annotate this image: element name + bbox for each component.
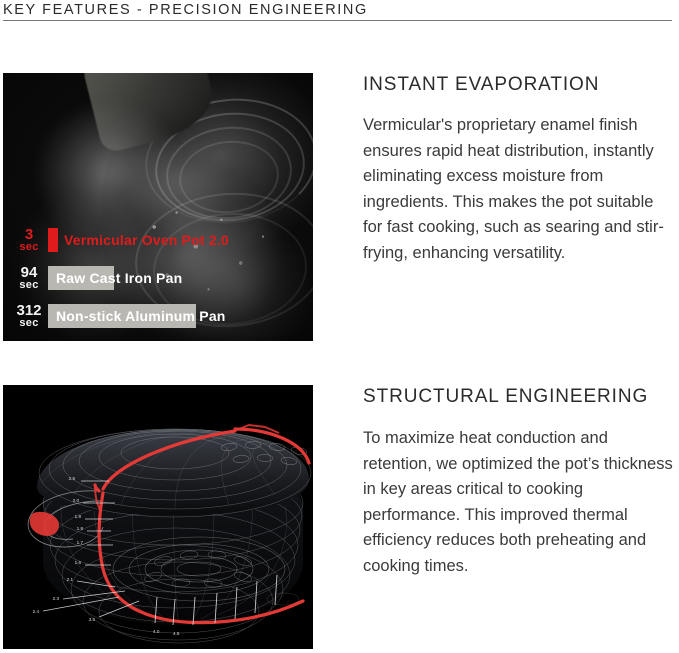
chart-row-aluminum: 312 sec Non-stick Aluminum Pan <box>10 299 313 333</box>
svg-text:1.9: 1.9 <box>75 514 82 519</box>
svg-text:3.5: 3.5 <box>89 617 96 622</box>
bar-wrap: Non-stick Aluminum Pan <box>48 304 196 328</box>
section-header: KEY FEATURES - PRECISION ENGINEERING <box>3 0 676 21</box>
svg-text:1.8: 1.8 <box>77 526 84 531</box>
bar-label-cast-iron: Raw Cast Iron Pan <box>56 271 182 285</box>
key-features-page: KEY FEATURES - PRECISION ENGINEERING <box>0 0 679 653</box>
feature-body: Vermicular's proprietary enamel finish e… <box>363 113 675 266</box>
feature-row-instant-evaporation: 3 sec Vermicular Oven Pot 2.0 94 sec <box>0 73 679 341</box>
feature-media-wireframe-pot: 2.5 2.0 1.9 1.8 1.7 1.6 2.1 2.3 2.4 3.5 … <box>3 385 313 649</box>
feature-copy-structural-engineering: STRUCTURAL ENGINEERING To maximize heat … <box>363 385 675 579</box>
chart-row-vermicular: 3 sec Vermicular Oven Pot 2.0 <box>10 223 313 257</box>
bar-value-number: 312 <box>10 303 48 318</box>
bar-fill-vermicular <box>48 228 58 252</box>
page-title: KEY FEATURES - PRECISION ENGINEERING <box>3 0 676 20</box>
bar-value-vermicular: 3 sec <box>10 227 48 254</box>
svg-text:1.7: 1.7 <box>77 540 84 545</box>
chart-row-cast-iron: 94 sec Raw Cast Iron Pan <box>10 261 313 295</box>
feature-title: INSTANT EVAPORATION <box>363 73 675 97</box>
svg-text:2.5: 2.5 <box>69 476 76 481</box>
feature-title: STRUCTURAL ENGINEERING <box>363 385 675 409</box>
svg-text:2.1: 2.1 <box>67 577 74 582</box>
wireframe-pot-diagram: 2.5 2.0 1.9 1.8 1.7 1.6 2.1 2.3 2.4 3.5 … <box>3 385 313 649</box>
svg-text:2.0: 2.0 <box>73 498 80 503</box>
bar-wrap: Raw Cast Iron Pan <box>48 266 114 290</box>
wireframe-illustration: 2.5 2.0 1.9 1.8 1.7 1.6 2.1 2.3 2.4 3.5 … <box>3 385 313 649</box>
svg-text:2.3: 2.3 <box>53 596 60 601</box>
feature-media-steaming-pot: 3 sec Vermicular Oven Pot 2.0 94 sec <box>3 73 313 341</box>
svg-text:4.0: 4.0 <box>153 629 160 634</box>
bar-value-number: 3 <box>10 227 48 242</box>
bar-label-vermicular: Vermicular Oven Pot 2.0 <box>64 233 229 247</box>
svg-text:4.5: 4.5 <box>173 631 180 636</box>
svg-text:1.6: 1.6 <box>75 560 82 565</box>
bar-value-unit: sec <box>10 280 48 291</box>
bar-value-cast-iron: 94 sec <box>10 265 48 292</box>
header-divider <box>3 20 672 21</box>
bar-label-aluminum: Non-stick Aluminum Pan <box>56 309 226 323</box>
feature-row-structural-engineering: 2.5 2.0 1.9 1.8 1.7 1.6 2.1 2.3 2.4 3.5 … <box>0 385 679 649</box>
bar-value-unit: sec <box>10 242 48 253</box>
bar-value-aluminum: 312 sec <box>10 303 48 330</box>
feature-copy-instant-evaporation: INSTANT EVAPORATION Vermicular's proprie… <box>363 73 675 266</box>
evaporation-bar-chart: 3 sec Vermicular Oven Pot 2.0 94 sec <box>3 223 313 333</box>
bar-wrap: Vermicular Oven Pot 2.0 <box>48 228 58 252</box>
svg-text:2.4: 2.4 <box>33 609 40 614</box>
feature-body: To maximize heat conduction and retentio… <box>363 426 675 579</box>
bar-value-unit: sec <box>10 318 48 329</box>
bar-value-number: 94 <box>10 265 48 280</box>
